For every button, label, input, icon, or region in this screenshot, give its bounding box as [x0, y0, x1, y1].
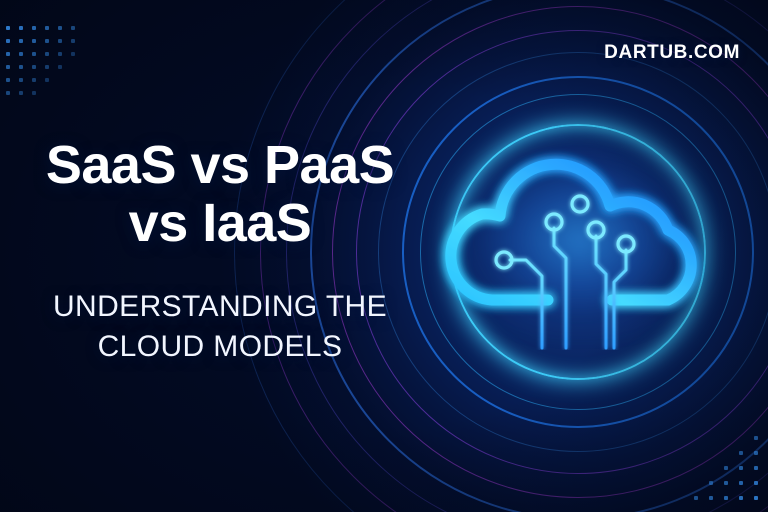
cloud-circuit-icon	[430, 120, 730, 350]
grid-dot	[754, 466, 758, 470]
grid-dot	[71, 52, 75, 56]
subtitle-line-2: CLOUD MODELS	[98, 330, 343, 363]
grid-dot	[45, 78, 49, 82]
grid-dot	[6, 39, 10, 43]
grid-dot	[694, 496, 698, 500]
subtitle-line-1: UNDERSTANDING THE	[53, 290, 387, 323]
grid-dot	[45, 65, 49, 69]
banner-canvas: SaaS vs PaaS vs IaaS UNDERSTANDING THE C…	[0, 0, 768, 512]
grid-dot	[6, 65, 10, 69]
grid-dot	[45, 26, 49, 30]
grid-dot	[724, 496, 728, 500]
grid-dot	[58, 26, 62, 30]
grid-dot	[32, 39, 36, 43]
grid-dot	[739, 451, 743, 455]
page-title: SaaS vs PaaS vs IaaS	[0, 136, 440, 253]
grid-dot	[754, 481, 758, 485]
cloud-circuit-svg	[430, 120, 730, 350]
grid-dot	[754, 451, 758, 455]
grid-dot	[754, 436, 758, 440]
page-subtitle: UNDERSTANDING THE CLOUD MODELS	[0, 287, 440, 367]
grid-dot	[45, 39, 49, 43]
title-line-2: vs IaaS	[129, 193, 312, 253]
grid-dot	[32, 78, 36, 82]
grid-dot	[19, 65, 23, 69]
grid-dot	[739, 496, 743, 500]
grid-dot	[32, 52, 36, 56]
grid-dot	[58, 52, 62, 56]
grid-dot	[32, 65, 36, 69]
grid-dot	[19, 78, 23, 82]
grid-dot	[724, 481, 728, 485]
grid-dot	[32, 26, 36, 30]
grid-dot	[739, 481, 743, 485]
grid-dot	[6, 91, 10, 95]
grid-dot	[19, 91, 23, 95]
grid-dot	[71, 39, 75, 43]
grid-dot	[754, 496, 758, 500]
grid-dot	[58, 65, 62, 69]
grid-dot	[709, 481, 713, 485]
grid-dot	[19, 39, 23, 43]
grid-dot	[58, 39, 62, 43]
grid-dot	[32, 91, 36, 95]
title-line-1: SaaS vs PaaS	[46, 135, 394, 195]
grid-dot	[19, 52, 23, 56]
grid-dot	[45, 52, 49, 56]
grid-dot	[6, 52, 10, 56]
grid-dot	[19, 26, 23, 30]
site-logo[interactable]: DARTUB.COM	[604, 42, 740, 64]
grid-dot	[6, 26, 10, 30]
grid-dot	[71, 26, 75, 30]
grid-dot	[709, 496, 713, 500]
grid-dot	[6, 78, 10, 82]
grid-dot	[724, 466, 728, 470]
grid-dot	[739, 466, 743, 470]
